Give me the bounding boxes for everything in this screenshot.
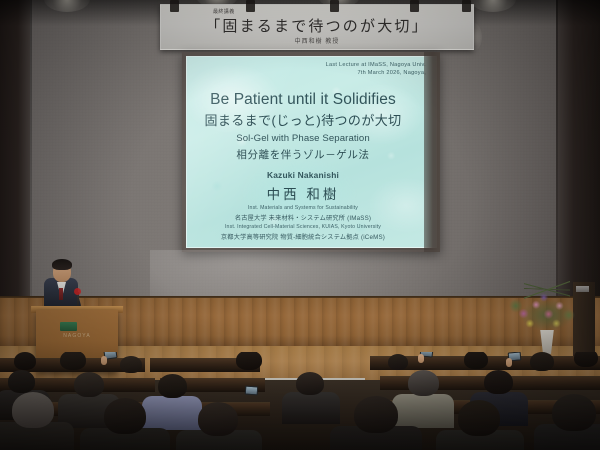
microphone-icon <box>74 288 81 295</box>
wall-panel-left <box>0 0 30 300</box>
university-emblem-icon <box>60 322 77 331</box>
audience-hand <box>506 358 512 367</box>
banner-mount-2 <box>246 0 255 12</box>
podium-label: NAGOYA <box>40 333 114 339</box>
audience-head <box>158 374 187 398</box>
audience <box>0 352 600 450</box>
audience-head <box>60 352 86 370</box>
slide-author-english: Kazuki Nakanishi <box>187 170 419 180</box>
flower-arrangement <box>508 285 586 337</box>
audience-head <box>552 394 596 431</box>
audience-head <box>236 352 262 370</box>
audience-head <box>14 352 36 370</box>
banner-mount-1 <box>170 0 179 12</box>
lecture-hall-photo: 最終講義 「固まるまで待つのが大切」 中西和樹 教授 Last Lecture … <box>0 0 600 450</box>
audience-head <box>388 354 408 370</box>
event-banner: 最終講義 「固まるまで待つのが大切」 中西和樹 教授 <box>160 4 474 50</box>
slide-affiliation-2-japanese: 京都大学高等研究院 物質-細胞統合システム拠点 (iCeMS) <box>187 232 419 241</box>
slide-author-japanese: 中西 和樹 <box>187 183 419 203</box>
slide-text-layer: Last Lecture at IMaSS, Nagoya Univ. 7th … <box>187 57 436 247</box>
slide-header-line-1: Last Lecture at IMaSS, Nagoya Univ. <box>326 62 426 68</box>
slide-subtitle-english: Sol-Gel with Phase Separation <box>187 133 419 144</box>
slide-title-japanese: 固まるまで(じっと)待つのが大切 <box>187 110 419 129</box>
audience-hand <box>101 356 107 365</box>
slide-title-english: Be Patient until it Solidifies <box>187 91 419 109</box>
smartphone-icon <box>245 386 259 396</box>
audience-head <box>484 370 513 394</box>
audience-head <box>354 396 398 433</box>
audience-head <box>574 352 598 367</box>
audience-hand <box>418 354 424 363</box>
wall-seam-right <box>556 0 558 300</box>
audience-head <box>458 400 500 436</box>
banner-title: 「固まるまで待つのが大切」 <box>161 15 473 36</box>
slide-affiliation-2-english: Inst. Integrated Cell-Material Sciences,… <box>187 224 419 230</box>
screen-right-shadow <box>424 52 440 252</box>
wall-panel-right <box>556 0 600 300</box>
audience-head <box>408 370 439 396</box>
slide-affiliation-1-japanese: 名古屋大学 未来材料・システム研究所 (IMaSS) <box>187 213 419 222</box>
audience-head <box>104 398 146 434</box>
slide-subtitle-japanese: 相分離を伴うゾル－ゲル法 <box>187 147 419 162</box>
audience-head <box>8 370 35 393</box>
audience-head <box>12 392 54 428</box>
banner-subtitle: 最終講義 <box>213 8 235 15</box>
audience-shoulders <box>142 396 202 430</box>
speaker-hair <box>52 259 72 270</box>
wall-seam-left <box>30 0 32 300</box>
banner-mount-5 <box>462 0 471 12</box>
audience-head <box>530 352 554 371</box>
audience-head <box>74 372 104 397</box>
banner-mount-4 <box>410 0 419 12</box>
audience-head <box>120 356 142 373</box>
audience-head <box>464 352 488 369</box>
audience-shoulders <box>282 392 340 424</box>
presentation-slide: Last Lecture at IMaSS, Nagoya Univ. 7th … <box>186 56 437 248</box>
banner-mount-3 <box>330 0 339 12</box>
banner-speaker-name: 中西和樹 教授 <box>161 36 473 45</box>
slide-header-line-2: 7th March 2026, Nagoya, <box>357 70 426 76</box>
speaker-tie <box>59 288 63 300</box>
slide-affiliation-1-english: Inst. Materials and Systems for Sustaina… <box>187 205 419 211</box>
audience-head <box>198 402 238 436</box>
audience-shoulders <box>392 394 454 428</box>
audience-head <box>296 372 324 395</box>
